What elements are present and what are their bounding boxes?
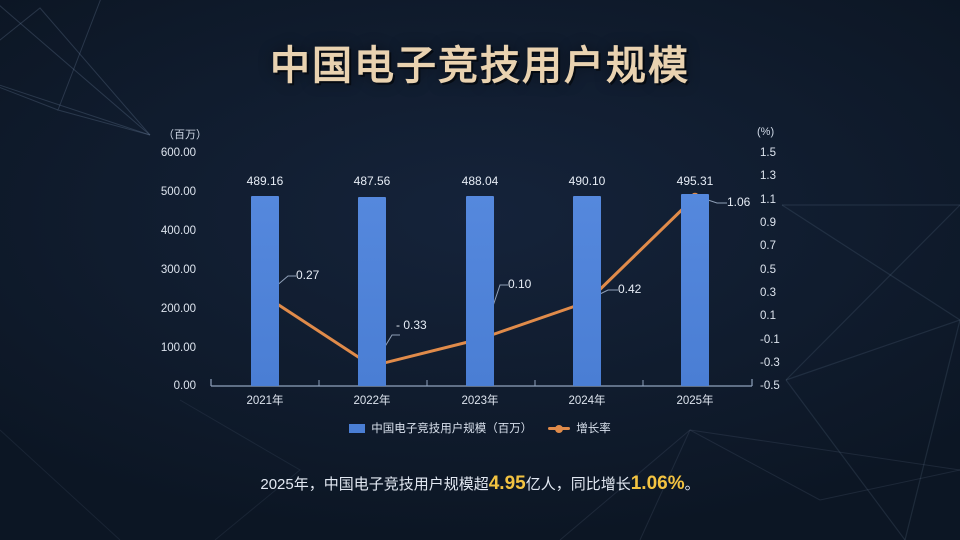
left-y-tick: 300.00	[161, 264, 196, 276]
bar-2025[interactable]	[681, 194, 709, 386]
right-y-tick: -0.3	[760, 357, 780, 369]
right-y-tick: 1.1	[760, 194, 776, 206]
legend-bar-swatch-icon	[349, 424, 365, 433]
right-y-tick: 0.5	[760, 264, 776, 276]
line-value-label: - 0.33	[396, 318, 427, 332]
bar-value-label: 490.10	[569, 174, 606, 188]
legend-item-label: 增长率	[576, 420, 611, 436]
right-y-tick: 0.3	[760, 287, 776, 299]
bar-value-label: 487.56	[354, 174, 391, 188]
right-axis-unit: (%)	[757, 126, 774, 138]
caption-highlight-growth: 1.06%	[631, 473, 685, 494]
right-y-tick: 0.1	[760, 310, 776, 322]
bar-2023[interactable]	[466, 196, 494, 386]
line-value-label: 0.10	[508, 277, 531, 291]
caption-part-2: 亿人，同比增长	[526, 476, 631, 493]
caption-part-3: 。	[685, 476, 700, 493]
chart-legend: 中国电子竞技用户规模（百万） 增长率	[0, 420, 960, 436]
bar-value-label: 488.04	[462, 174, 499, 188]
right-y-tick: -0.1	[760, 334, 780, 346]
line-value-label: 1.06	[727, 195, 750, 209]
right-y-tick: 0.9	[760, 217, 776, 229]
x-tick-2021: 2021年	[246, 392, 283, 408]
line-value-label: 0.27	[296, 268, 319, 282]
left-y-tick: 600.00	[161, 147, 196, 159]
legend-item-label: 中国电子竞技用户规模（百万）	[371, 420, 532, 436]
x-tick-2022: 2022年	[353, 392, 390, 408]
line-value-label: 0.42	[618, 282, 641, 296]
right-y-tick: 0.7	[760, 240, 776, 252]
caption-highlight-scale: 4.95	[489, 473, 526, 494]
left-y-tick: 500.00	[161, 186, 196, 198]
legend-item-bar[interactable]: 中国电子竞技用户规模（百万）	[349, 420, 532, 436]
left-axis-unit: （百万）	[163, 126, 207, 142]
summary-caption: 2025年，中国电子竞技用户规模超4.95亿人，同比增长1.06%。	[0, 473, 960, 495]
bar-2022[interactable]	[358, 197, 386, 386]
x-tick-2024: 2024年	[568, 392, 605, 408]
caption-part-1: 2025年，中国电子竞技用户规模超	[260, 476, 488, 493]
left-y-tick: 200.00	[161, 303, 196, 315]
label-leader-lines	[268, 197, 727, 363]
x-tick-2023: 2023年	[461, 392, 498, 408]
bar-value-label: 495.31	[677, 174, 714, 188]
legend-line-marker-icon	[548, 423, 570, 433]
slide-canvas: 中国电子竞技用户规模	[0, 0, 960, 540]
x-tick-2025: 2025年	[676, 392, 713, 408]
right-y-tick: 1.3	[760, 170, 776, 182]
bar-2024[interactable]	[573, 196, 601, 386]
left-y-tick: 100.00	[161, 342, 196, 354]
left-y-tick: 0.00	[174, 380, 196, 392]
right-y-tick: 1.5	[760, 147, 776, 159]
legend-item-line[interactable]: 增长率	[548, 420, 611, 436]
left-y-tick: 400.00	[161, 225, 196, 237]
combo-chart: （百万） (%) 600.00 500.00 400.00 300.00 200…	[0, 0, 960, 540]
right-y-tick: -0.5	[760, 380, 780, 392]
bar-2021[interactable]	[251, 196, 279, 386]
bar-value-label: 489.16	[247, 174, 284, 188]
